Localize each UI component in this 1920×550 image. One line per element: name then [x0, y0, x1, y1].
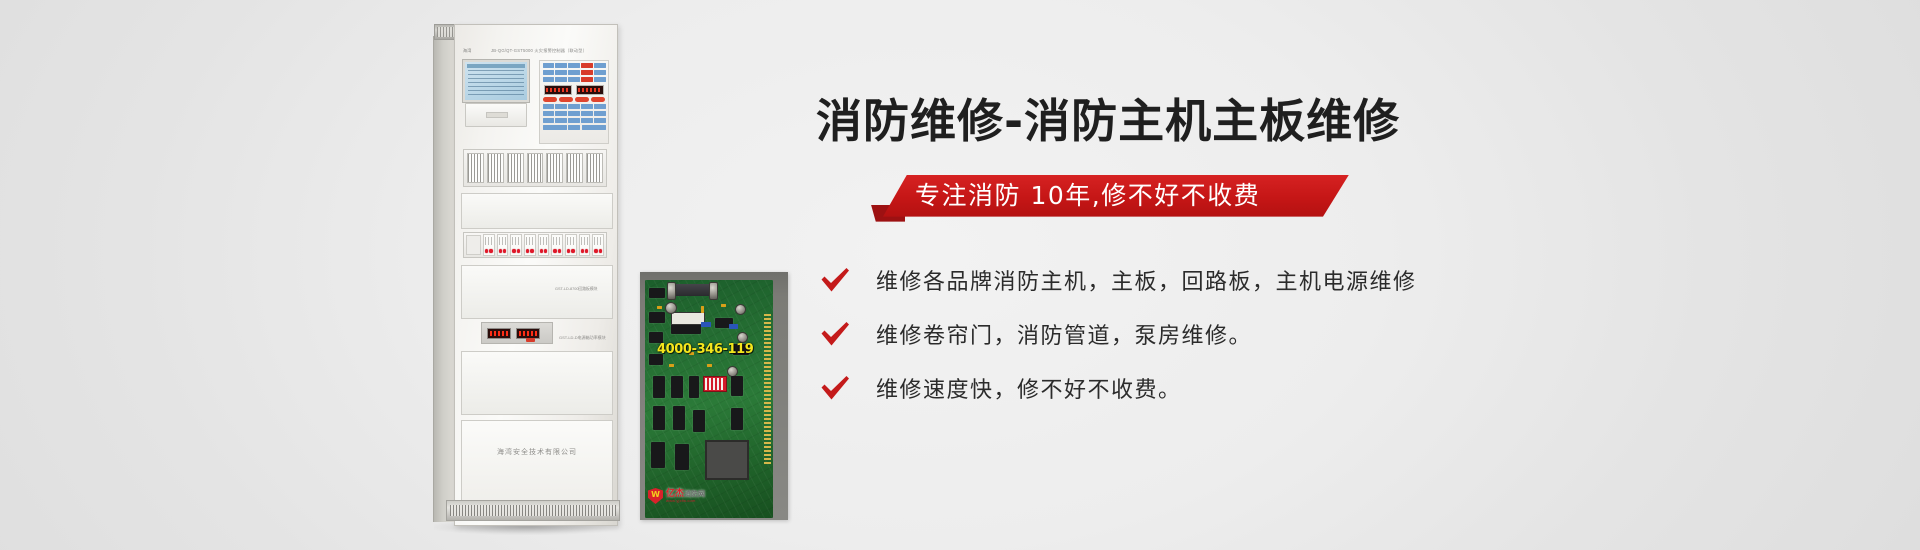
pcb-ic-chip	[649, 288, 665, 298]
list-item-label: 维修各品牌消防主机，主板，回路板，主机电源维修	[876, 264, 1417, 296]
keypad-key	[581, 111, 592, 116]
keypad-key	[594, 70, 605, 75]
keypad-key	[582, 125, 606, 130]
indicator-lamp	[543, 97, 557, 102]
cabinet-power-supply-module	[481, 322, 553, 344]
led-readout	[576, 85, 604, 95]
terminal-column	[507, 153, 524, 183]
cabinet-blank-panel	[461, 265, 613, 319]
keypad-indicator-row	[543, 97, 605, 102]
page-title: 消防维修-消防主机主板维修	[816, 96, 1836, 147]
cabinet-blank-panel	[461, 193, 613, 229]
cabinet-lcd-display	[463, 60, 529, 102]
zone-module	[510, 234, 522, 256]
cabinet-keypad	[539, 60, 609, 144]
zone-module	[579, 234, 591, 256]
terminal-column	[467, 153, 484, 183]
cabinet-company-name: 海湾安全技术有限公司	[462, 447, 612, 457]
pcb-resistor	[669, 364, 674, 367]
lcd-text-rows	[468, 70, 524, 98]
watermark-suffix: 消防网	[684, 491, 705, 498]
pcb-resistor	[657, 306, 662, 309]
watermark-text-group: 亿杰消防网 www.yjxfw.com	[666, 489, 705, 503]
power-current-display	[516, 328, 540, 339]
terminal-column	[566, 153, 583, 183]
pcb-resistor	[707, 364, 712, 367]
cabinet-power-label: GST-LD-D电源箱功率模块	[559, 335, 606, 341]
list-item-label: 维修卷帘门，消防管道，泵房维修。	[876, 318, 1252, 350]
keypad-row	[543, 63, 606, 68]
feature-list: 维修各品牌消防主机，主板，回路板，主机电源维修 维修卷帘门，消防管道，泵房维修。…	[816, 253, 1836, 415]
watermark-url: www.yjxfw.com	[666, 499, 705, 503]
zone-module-logo	[466, 235, 481, 255]
pcb-ic-chip	[651, 442, 665, 468]
keypad-key	[594, 63, 605, 68]
terminal-column	[527, 153, 544, 183]
keypad-key	[555, 70, 566, 75]
cabinet-model-label: JB-QG/QT-GST5000 火灾报警控制器（联动型）	[491, 48, 587, 54]
keypad-key	[568, 104, 579, 109]
keypad-led-readouts	[544, 85, 604, 95]
keypad-key	[568, 70, 579, 75]
keypad-key	[543, 111, 554, 116]
shield-logo-icon	[648, 488, 663, 504]
watermark-brand: 亿杰消防网	[666, 489, 705, 498]
keypad-key	[543, 70, 554, 75]
list-item: 维修速度快，修不好不收费。	[816, 361, 1836, 415]
terminal-column	[546, 153, 563, 183]
check-icon	[816, 267, 854, 293]
pcb-capacitor	[709, 282, 718, 300]
keypad-key	[555, 104, 566, 109]
keypad-row	[543, 70, 606, 75]
zone-module	[551, 234, 563, 256]
keypad-row	[543, 125, 606, 130]
pcb-capacitor	[665, 302, 677, 314]
list-item: 维修各品牌消防主机，主板，回路板，主机电源维修	[816, 253, 1836, 307]
keypad-key	[568, 77, 579, 82]
fire-alarm-control-cabinet-image: 海湾 JB-QG/QT-GST5000 火灾报警控制器（联动型）	[424, 14, 624, 539]
keypad-key-alarm	[581, 63, 592, 68]
keypad-key	[543, 118, 554, 123]
indicator-lamp	[591, 97, 605, 102]
indicator-lamp	[575, 97, 589, 102]
zone-module	[592, 234, 604, 256]
pcb-trimmer	[729, 324, 738, 329]
cabinet-terminal-strip-block	[463, 149, 607, 187]
keypad-row	[543, 77, 606, 82]
pcb-resistor	[721, 304, 726, 307]
check-icon	[816, 375, 854, 401]
pcb-ic-chip	[673, 406, 685, 430]
keypad-key	[594, 118, 605, 123]
promo-ribbon: 专注消防 10年,修不好不收费	[871, 175, 1349, 221]
terminal-column	[487, 153, 504, 183]
pcb-watermark: 亿杰消防网 www.yjxfw.com	[648, 488, 705, 504]
keypad-key	[543, 125, 567, 130]
cabinet-body: 海湾 JB-QG/QT-GST5000 火灾报警控制器（联动型）	[454, 24, 618, 526]
keypad-key	[594, 104, 605, 109]
lcd-title-bar	[467, 64, 525, 68]
zone-module	[565, 234, 577, 256]
terminal-column	[586, 153, 603, 183]
pcb-board-code: 4000-346-119	[657, 342, 753, 357]
keypad-key	[543, 63, 554, 68]
keypad-key	[543, 104, 554, 109]
pcb-ic-chip	[653, 376, 665, 398]
keypad-key	[543, 77, 554, 82]
keypad-key	[568, 125, 580, 130]
keypad-key	[568, 118, 579, 123]
pcb-ic-chip	[649, 312, 665, 323]
cabinet-blank-panel	[461, 351, 613, 415]
promo-banner: 海湾 JB-QG/QT-GST5000 火灾报警控制器（联动型）	[0, 0, 1920, 550]
led-readout	[544, 85, 572, 95]
keypad-key	[594, 77, 605, 82]
ribbon-label: 专注消防 10年,修不好不收费	[915, 175, 1260, 217]
pcb-trimmer	[701, 322, 711, 327]
power-voltage-display	[487, 328, 511, 339]
cabinet-zone-module-row	[463, 232, 607, 258]
keypad-row	[543, 104, 606, 109]
zone-module	[497, 234, 509, 256]
keypad-key	[568, 111, 579, 116]
keypad-key	[581, 104, 592, 109]
cabinet-module-model-label: GST-LD-8700回路板模块	[555, 287, 597, 292]
keypad-key	[555, 77, 566, 82]
pcb-ic-chip	[731, 376, 743, 396]
cabinet-brand-label: 海湾	[463, 48, 472, 54]
pcb-ic-chip	[689, 376, 699, 398]
promo-content: 消防维修-消防主机主板维修 专注消防 10年,修不好不收费 维修各品牌消防主机，…	[816, 96, 1836, 415]
pcb-ic-chip	[671, 376, 683, 398]
pcb-processor-chip	[705, 440, 749, 480]
pcb-capacitor	[735, 304, 746, 315]
keypad-key	[555, 118, 566, 123]
pcb-ic-chip	[675, 444, 689, 470]
zone-module	[524, 234, 536, 256]
pcb-ic-chip	[671, 324, 701, 334]
zone-module	[538, 234, 550, 256]
pcb-ic-chip	[731, 408, 743, 430]
keypad-key	[555, 111, 566, 116]
cabinet-printer-door	[465, 103, 527, 127]
pcb-ic-chip	[653, 406, 665, 430]
keypad-row	[543, 118, 606, 123]
pcb-ic-chip	[693, 410, 705, 432]
keypad-key-alarm	[581, 77, 592, 82]
pcb-edge-connector-pins	[764, 314, 771, 464]
cabinet-side-panel	[433, 36, 456, 522]
zone-module	[483, 234, 495, 256]
pcb-substrate: 4000-346-119	[645, 280, 773, 518]
circuit-board-image: 4000-346-119 亿杰消防网 www.yjxfw.com	[640, 272, 788, 520]
cabinet-bottom-vent	[446, 500, 620, 521]
pcb-capacitor	[667, 282, 676, 300]
list-item: 维修卷帘门，消防管道，泵房维修。	[816, 307, 1836, 361]
keypad-key	[581, 118, 592, 123]
pcb-resistor	[701, 306, 704, 313]
indicator-lamp	[559, 97, 573, 102]
pcb-socket-white	[671, 312, 705, 325]
keypad-key	[555, 63, 566, 68]
keypad-row	[543, 111, 606, 116]
keypad-key	[594, 111, 605, 116]
power-reset-button	[526, 338, 535, 342]
check-icon	[816, 321, 854, 347]
pcb-dip-switch	[703, 376, 727, 392]
keypad-key	[568, 63, 579, 68]
list-item-label: 维修速度快，修不好不收费。	[876, 372, 1182, 404]
keypad-key-alarm	[581, 70, 592, 75]
pcb-db-connector	[673, 284, 711, 296]
